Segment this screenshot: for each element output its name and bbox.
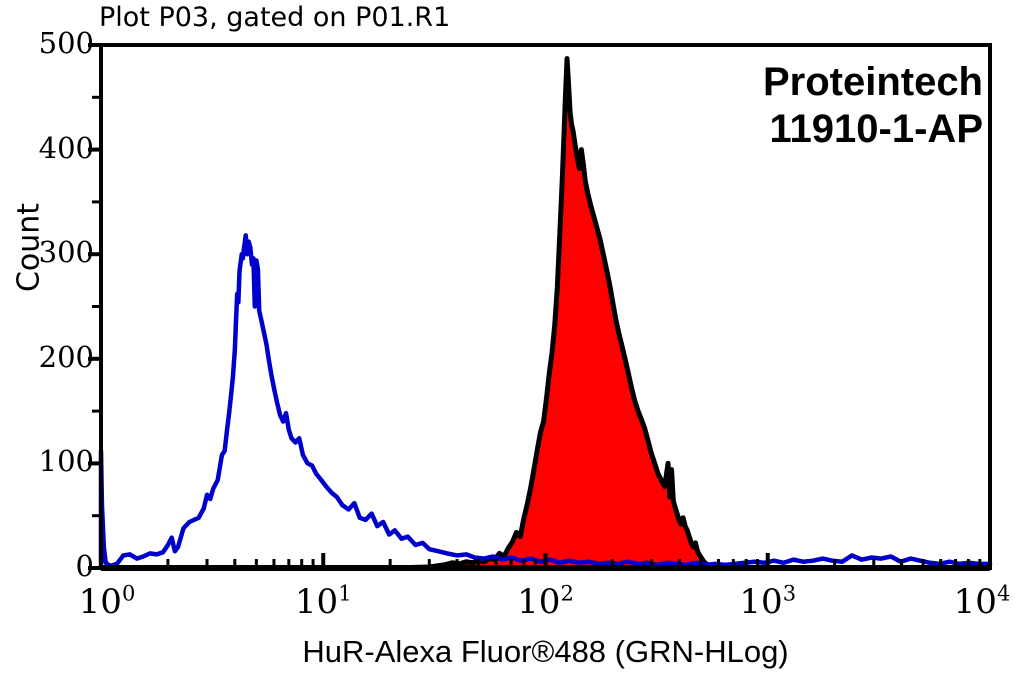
flow-cytometry-plot: Plot P03, gated on P01.R1 Proteintech 11… bbox=[0, 0, 1015, 683]
histogram-canvas bbox=[0, 0, 1015, 683]
